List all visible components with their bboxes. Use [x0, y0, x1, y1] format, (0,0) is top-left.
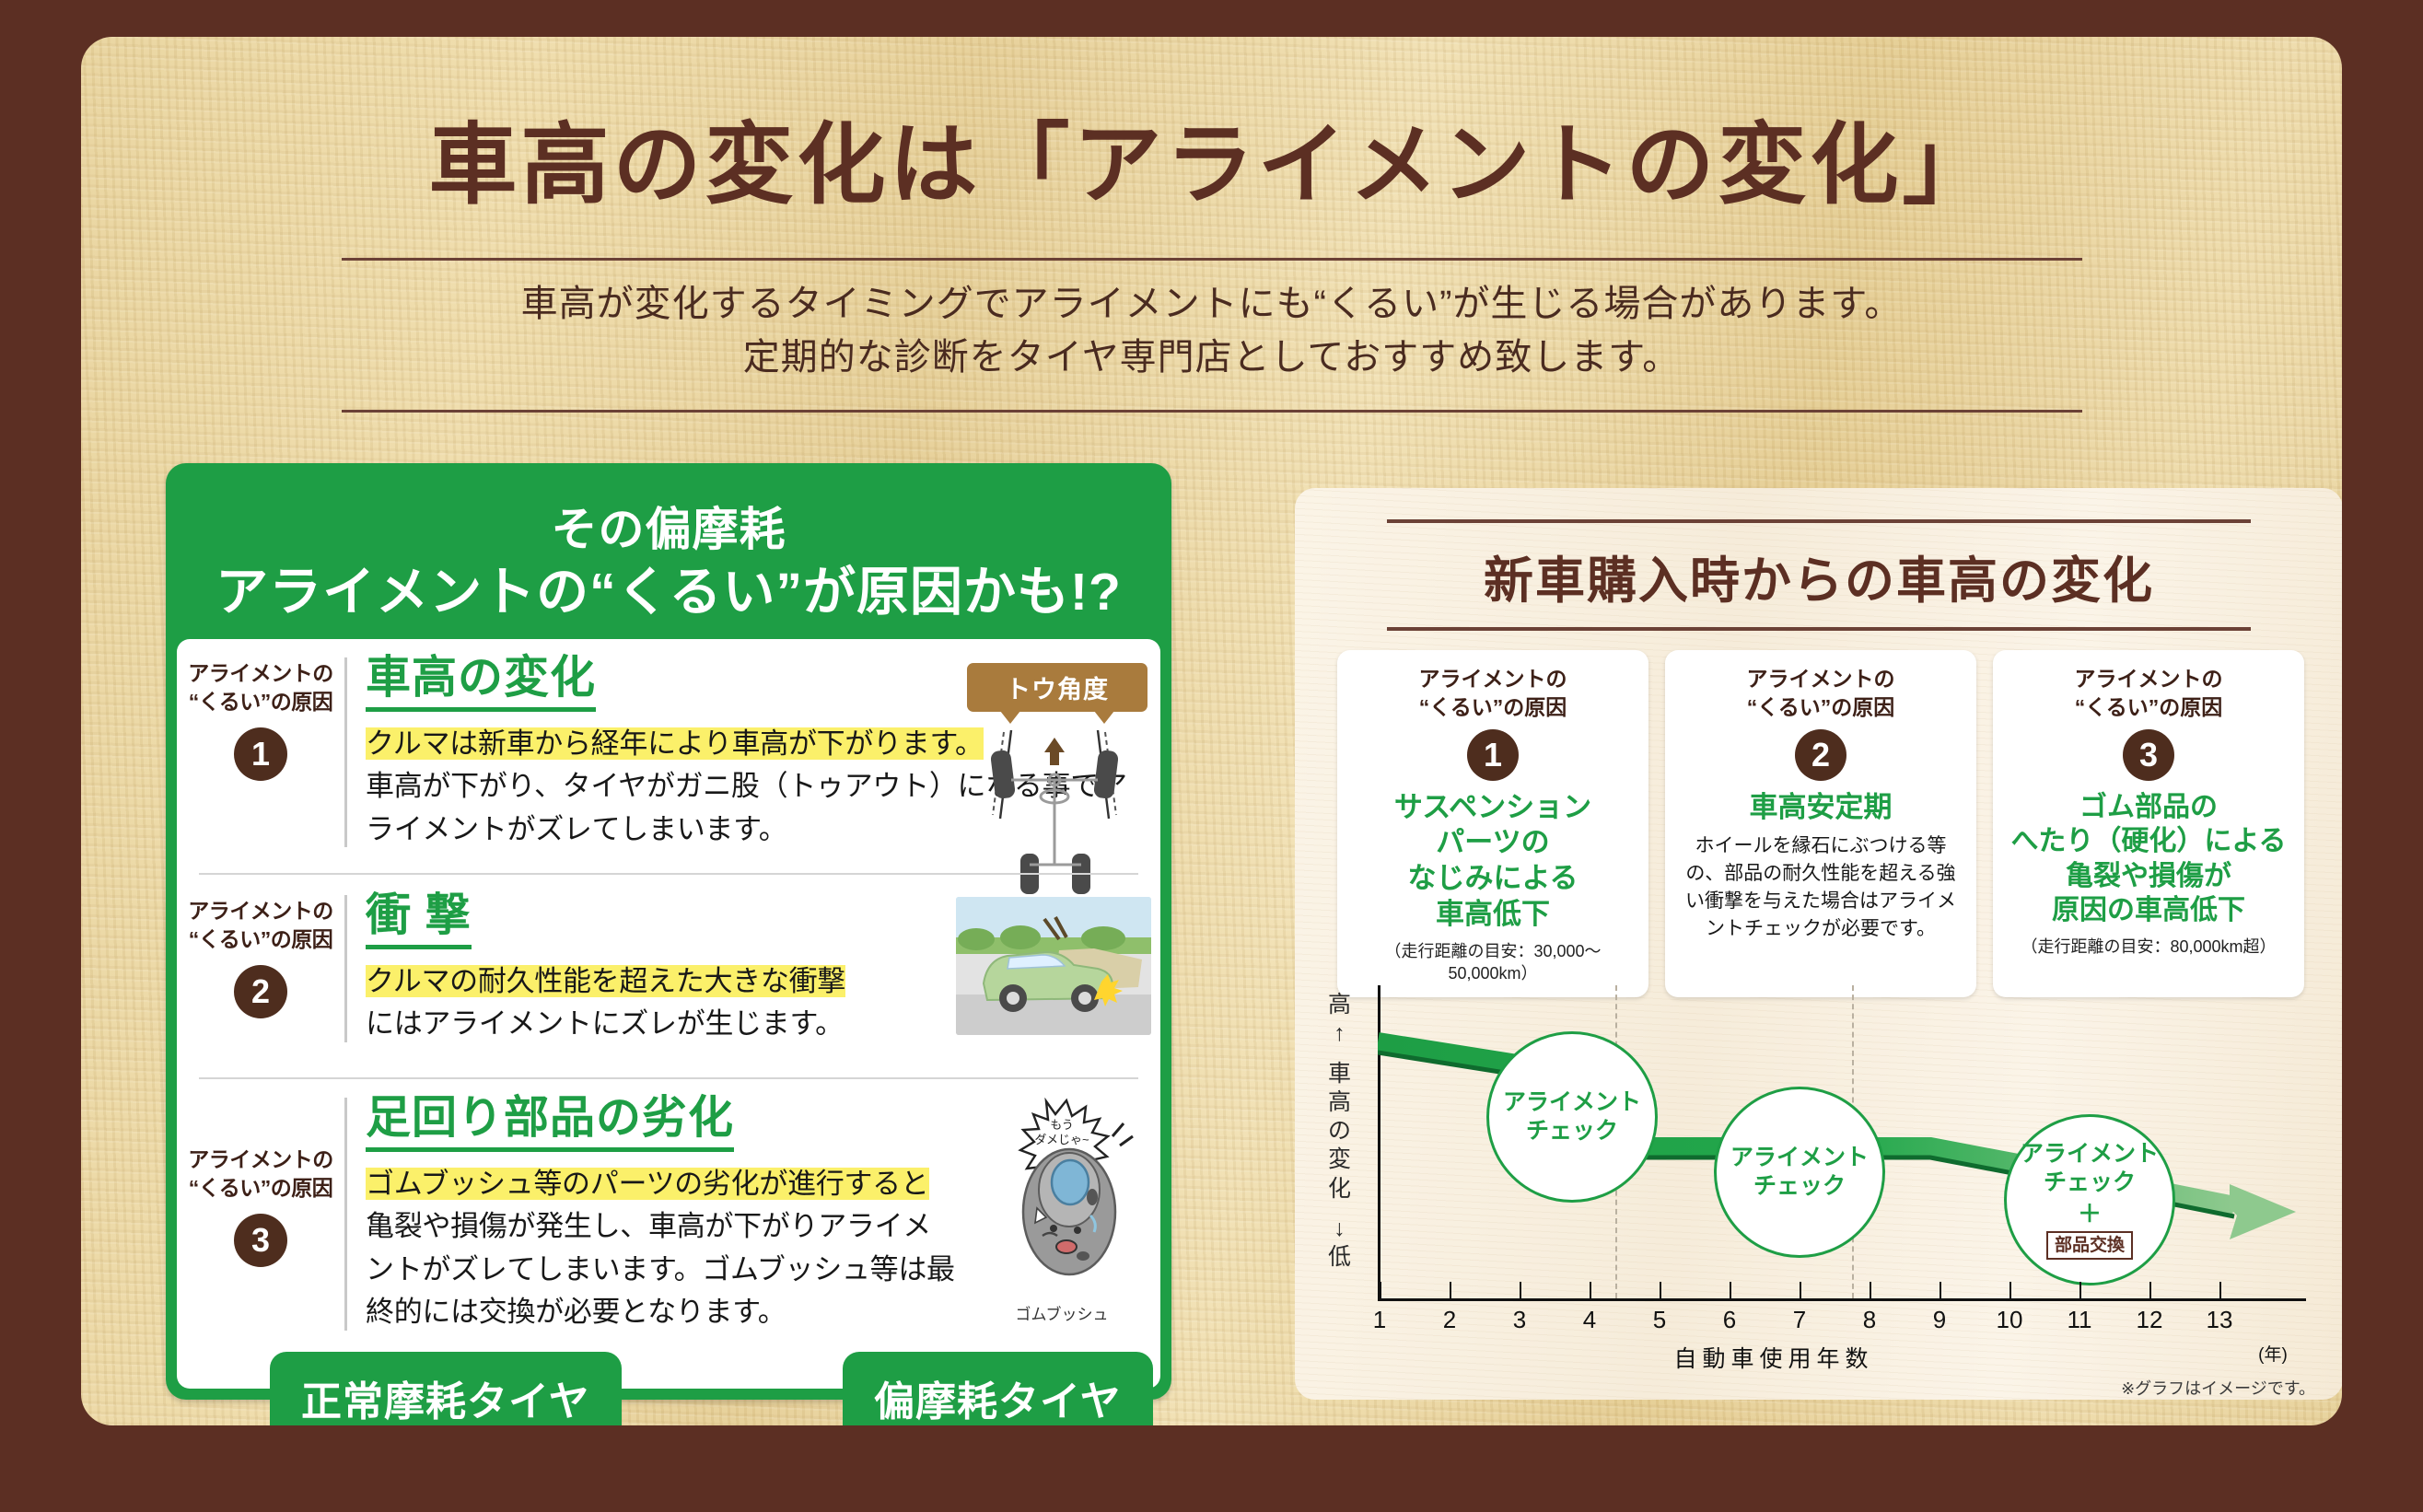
subtitle: 車高が変化するタイミングでアライメントにも“くるい”が生じる場合があります。 定… [81, 261, 2342, 390]
cause-content-2: 衝 撃 クルマの耐久性能を超えた大きな衝撃 にはアライメントにズレが生じます。 [366, 891, 1160, 1046]
svg-text:ダメじゃ~: ダメじゃ~ [1034, 1133, 1089, 1146]
info-card-2-number: 2 [1795, 729, 1846, 781]
bubble-1-line-2: チェック [1526, 1117, 1618, 1146]
chart-y-axis-label: 高 ↑ 車高の変化 ↓ 低 [1315, 991, 1365, 1272]
left-card-body: アライメントの “くるい”の原因 1 車高の変化 クルマは新車から経年により車高… [177, 639, 1160, 1389]
left-heading-line-2: アライメントの“くるい”が原因かも!? [166, 559, 1171, 626]
tab-normal-wear-tire[interactable]: 正常摩耗タイヤ [270, 1352, 622, 1425]
x-tick-label-6: 6 [1723, 1306, 1736, 1334]
cause-badge-line-2: “くるい”の原因 [177, 688, 344, 716]
cause-item-3: アライメントの “くるい”の原因 3 足回り部品の劣化 ゴムブッシュ等のパーツの… [177, 1094, 1160, 1334]
x-tick-label-3: 3 [1513, 1306, 1526, 1334]
cause-separator-2 [199, 1077, 1138, 1079]
info-card-2-title: 車高安定期 [1676, 790, 1965, 826]
x-tick-mark-6 [1730, 1282, 1731, 1298]
cause-divider-3 [344, 1098, 347, 1331]
x-tick-mark-13 [2219, 1282, 2221, 1298]
subtitle-line-2: 定期的な診断をタイヤ専門店としておすすめ致します。 [81, 331, 2342, 384]
x-tick-mark-2 [1450, 1282, 1451, 1298]
x-tick-label-2: 2 [1443, 1306, 1456, 1334]
cause-highlight-1: クルマは新車から経年により車高が下がります。 [366, 727, 984, 760]
left-causes-card: その偏摩耗 アライメントの“くるい”が原因かも!? アライメントの “くるい”の… [166, 463, 1171, 1400]
cause-badge-3: アライメントの “くるい”の原因 3 [177, 1094, 344, 1334]
cause-badge-2: アライメントの “くるい”の原因 2 [177, 891, 344, 1046]
cause-rest-2: にはアライメントにズレが生じます。 [366, 1007, 844, 1040]
x-tick-mark-12 [2149, 1282, 2151, 1298]
rubber-bush-figure: もう ダメじゃ~ [974, 1098, 1149, 1324]
x-tick-label-10: 10 [1997, 1306, 2023, 1334]
bubble-2-line-1: アライメント [1730, 1144, 1869, 1172]
x-tick-label-13: 13 [2207, 1306, 2233, 1334]
ride-height-chart: 高 ↑ 車高の変化 ↓ 低 [1295, 985, 2342, 1400]
y-axis-bottom-label: 低 [1315, 1243, 1365, 1272]
x-tick-mark-1 [1380, 1282, 1381, 1298]
left-heading-line-1: その偏摩耗 [166, 500, 1171, 559]
alignment-check-bubble-1: アライメント チェック [1486, 1031, 1658, 1203]
cause-badge-2-line-2: “くるい”の原因 [177, 925, 344, 954]
info-card-1-head-line-2: “くるい”の原因 [1348, 693, 1637, 722]
right-chart-card: 新車購入時からの車高の変化 アライメントの “くるい”の原因 1 サスペンション… [1295, 488, 2342, 1400]
title-divider-bottom [342, 410, 2082, 413]
tab-normal-wear-label: 正常摩耗タイヤ [301, 1379, 590, 1425]
cause-badge-line-1: アライメントの [177, 659, 344, 688]
cause-divider-2 [344, 895, 347, 1042]
cause-number-3: 3 [234, 1214, 287, 1267]
rubber-bush-illustration-icon: もう ダメじゃ~ [974, 1098, 1149, 1293]
cause-text-2: クルマの耐久性能を超えた大きな衝撃 にはアライメントにズレが生じます。 [366, 960, 900, 1046]
info-card-2-head: アライメントの “くるい”の原因 [1676, 665, 1965, 722]
tab-uneven-wear-label: 偏摩耗タイヤ [874, 1379, 1122, 1425]
cause-badge-2-line-1: アライメントの [177, 897, 344, 925]
cause-highlight-2: クルマの耐久性能を超えた大きな衝撃 [366, 965, 845, 997]
tab-uneven-wear-tire[interactable]: 偏摩耗タイヤ [843, 1352, 1153, 1425]
alignment-check-bubble-2: アライメント チェック [1714, 1087, 1885, 1258]
alignment-check-bubble-3: アライメント チェック ＋ 部品交換 [2004, 1114, 2175, 1285]
x-tick-mark-9 [1940, 1282, 1941, 1298]
cause-badge-3-line-1: アライメントの [177, 1146, 344, 1174]
right-panel-title: 新車購入時からの車高の変化 [1295, 523, 2342, 627]
bubble-3-line-2: チェック [2044, 1169, 2136, 1197]
x-tick-mark-5 [1660, 1282, 1661, 1298]
car-impact-photo [956, 897, 1151, 1035]
cause-text-3: ゴムブッシュ等のパーツの劣化が進行すると 亀裂や損傷が発生し、車高が下がりアライ… [366, 1163, 955, 1334]
toe-angle-label: トウ角度 [967, 663, 1147, 712]
info-card-3: アライメントの “くるい”の原因 3 ゴム部品の へたり（硬化）による 亀裂や損… [1993, 650, 2304, 997]
info-card-2-head-line-2: “くるい”の原因 [1676, 693, 1965, 722]
x-tick-label-5: 5 [1653, 1306, 1666, 1334]
info-card-2-body: ホイールを縁石にぶつける等の、部品の耐久性能を超える強い衝撃を与えた場合はアライ… [1676, 832, 1965, 942]
info-card-1-head-line-1: アライメントの [1348, 665, 1637, 693]
cause-separator-1 [199, 873, 1138, 875]
info-card-1: アライメントの “くるい”の原因 1 サスペンション パーツの なじみによる 車… [1337, 650, 1648, 997]
bubble-3-plus-icon: ＋ [2078, 1199, 2102, 1228]
y-axis-up-arrow-icon: ↑ [1315, 1019, 1365, 1048]
info-card-1-title: サスペンション パーツの なじみによる 車高低下 [1348, 790, 1637, 933]
info-card-3-title: ゴム部品の へたり（硬化）による 亀裂や損傷が 原因の車高低下 [2004, 790, 2293, 928]
x-tick-label-11: 11 [2068, 1306, 2092, 1334]
chart-x-axis-title: 自動車使用年数 [1673, 1341, 1873, 1374]
x-tick-mark-7 [1800, 1282, 1801, 1298]
cause-divider-1 [344, 657, 347, 847]
rubber-bush-caption: ゴムブッシュ [974, 1301, 1149, 1324]
right-title-divider-bottom [1387, 627, 2251, 631]
x-tick-label-12: 12 [2137, 1306, 2163, 1334]
cause-badge-3-line-2: “くるい”の原因 [177, 1174, 344, 1203]
wood-background-panel: 車高の変化は「アライメントの変化」 車高が変化するタイミングでアライメントにも“… [81, 37, 2342, 1425]
x-tick-mark-4 [1590, 1282, 1591, 1298]
info-card-list: アライメントの “くるい”の原因 1 サスペンション パーツの なじみによる 車… [1337, 650, 2304, 997]
x-tick-label-4: 4 [1583, 1306, 1596, 1334]
bubble-2-line-2: チェック [1753, 1172, 1846, 1201]
chart-x-axis-unit: (年) [2258, 1341, 2288, 1366]
left-card-heading: その偏摩耗 アライメントの“くるい”が原因かも!? [166, 463, 1171, 626]
x-tick-mark-11 [2079, 1282, 2081, 1298]
subtitle-line-1: 車高が変化するタイミングでアライメントにも“くるい”が生じる場合があります。 [81, 277, 2342, 331]
info-card-1-head: アライメントの “くるい”の原因 [1348, 665, 1637, 722]
toe-angle-figure: トウ角度 [967, 663, 1147, 902]
y-axis-title: 車高の変化 [1315, 1060, 1365, 1204]
info-card-3-head-line-2: “くるい”の原因 [2004, 693, 2293, 722]
y-axis-top-label: 高 [1315, 991, 1365, 1019]
page-title: 車高の変化は「アライメントの変化」 [81, 122, 2342, 210]
info-card-1-number: 1 [1467, 729, 1519, 781]
bubble-3-line-1: アライメント [2021, 1140, 2159, 1169]
info-card-2: アライメントの “くるい”の原因 2 車高安定期 ホイールを縁石にぶつける等の、… [1665, 650, 1976, 997]
info-card-3-head-line-1: アライメントの [2004, 665, 2293, 693]
x-tick-mark-10 [2009, 1282, 2011, 1298]
info-card-3-note: （走行距離の目安：80,000km超） [2004, 936, 2293, 958]
svg-text:もう: もう [1050, 1118, 1074, 1132]
cause-number-1: 1 [234, 727, 287, 781]
cause-number-2: 2 [234, 965, 287, 1018]
car-on-curb-illustration-icon [956, 897, 1151, 1035]
x-tick-label-8: 8 [1863, 1306, 1876, 1334]
info-card-1-note: （走行距離の目安：30,000〜50,000km） [1348, 940, 1637, 985]
cause-title-2: 衝 撃 [366, 891, 472, 949]
cause-highlight-3: ゴムブッシュ等のパーツの劣化が進行すると [366, 1168, 929, 1200]
info-card-3-number: 3 [2123, 729, 2174, 781]
x-tick-label-9: 9 [1933, 1306, 1946, 1334]
x-tick-mark-8 [1870, 1282, 1871, 1298]
cause-title-3: 足回り部品の劣化 [366, 1094, 734, 1152]
x-tick-label-7: 7 [1793, 1306, 1806, 1334]
cause-badge-1: アライメントの “くるい”の原因 1 [177, 654, 344, 851]
chart-disclaimer-note: ※グラフはイメージです。 [2121, 1376, 2315, 1400]
cause-content-1: 車高の変化 クルマは新車から経年により車高が下がります。 車高が下がり、タイヤが… [366, 654, 1160, 851]
info-card-3-head: アライメントの “くるい”の原因 [2004, 665, 2293, 722]
info-card-2-head-line-1: アライメントの [1676, 665, 1965, 693]
x-tick-label-1: 1 [1373, 1306, 1386, 1334]
cause-rest-3: 亀裂や損傷が発生し、車高が下がりアライメントがズレてしまいます。ゴムブッシュ等は… [366, 1210, 955, 1328]
y-axis-down-arrow-icon: ↓ [1315, 1215, 1365, 1243]
cause-item-1: アライメントの “くるい”の原因 1 車高の変化 クルマは新車から経年により車高… [177, 654, 1160, 851]
x-tick-mark-3 [1520, 1282, 1521, 1298]
cause-content-3: 足回り部品の劣化 ゴムブッシュ等のパーツの劣化が進行すると 亀裂や損傷が発生し、… [366, 1094, 1160, 1334]
cause-item-2: アライメントの “くるい”の原因 2 衝 撃 クルマの耐久性能を超えた大きな衝撃… [177, 891, 1160, 1046]
cause-title-1: 車高の変化 [366, 654, 596, 712]
header: 車高の変化は「アライメントの変化」 車高が変化するタイミングでアライメントにも“… [81, 37, 2342, 413]
bubble-3-part-replacement-label: 部品交換 [2046, 1231, 2133, 1261]
bubble-1-line-1: アライメント [1503, 1088, 1641, 1117]
